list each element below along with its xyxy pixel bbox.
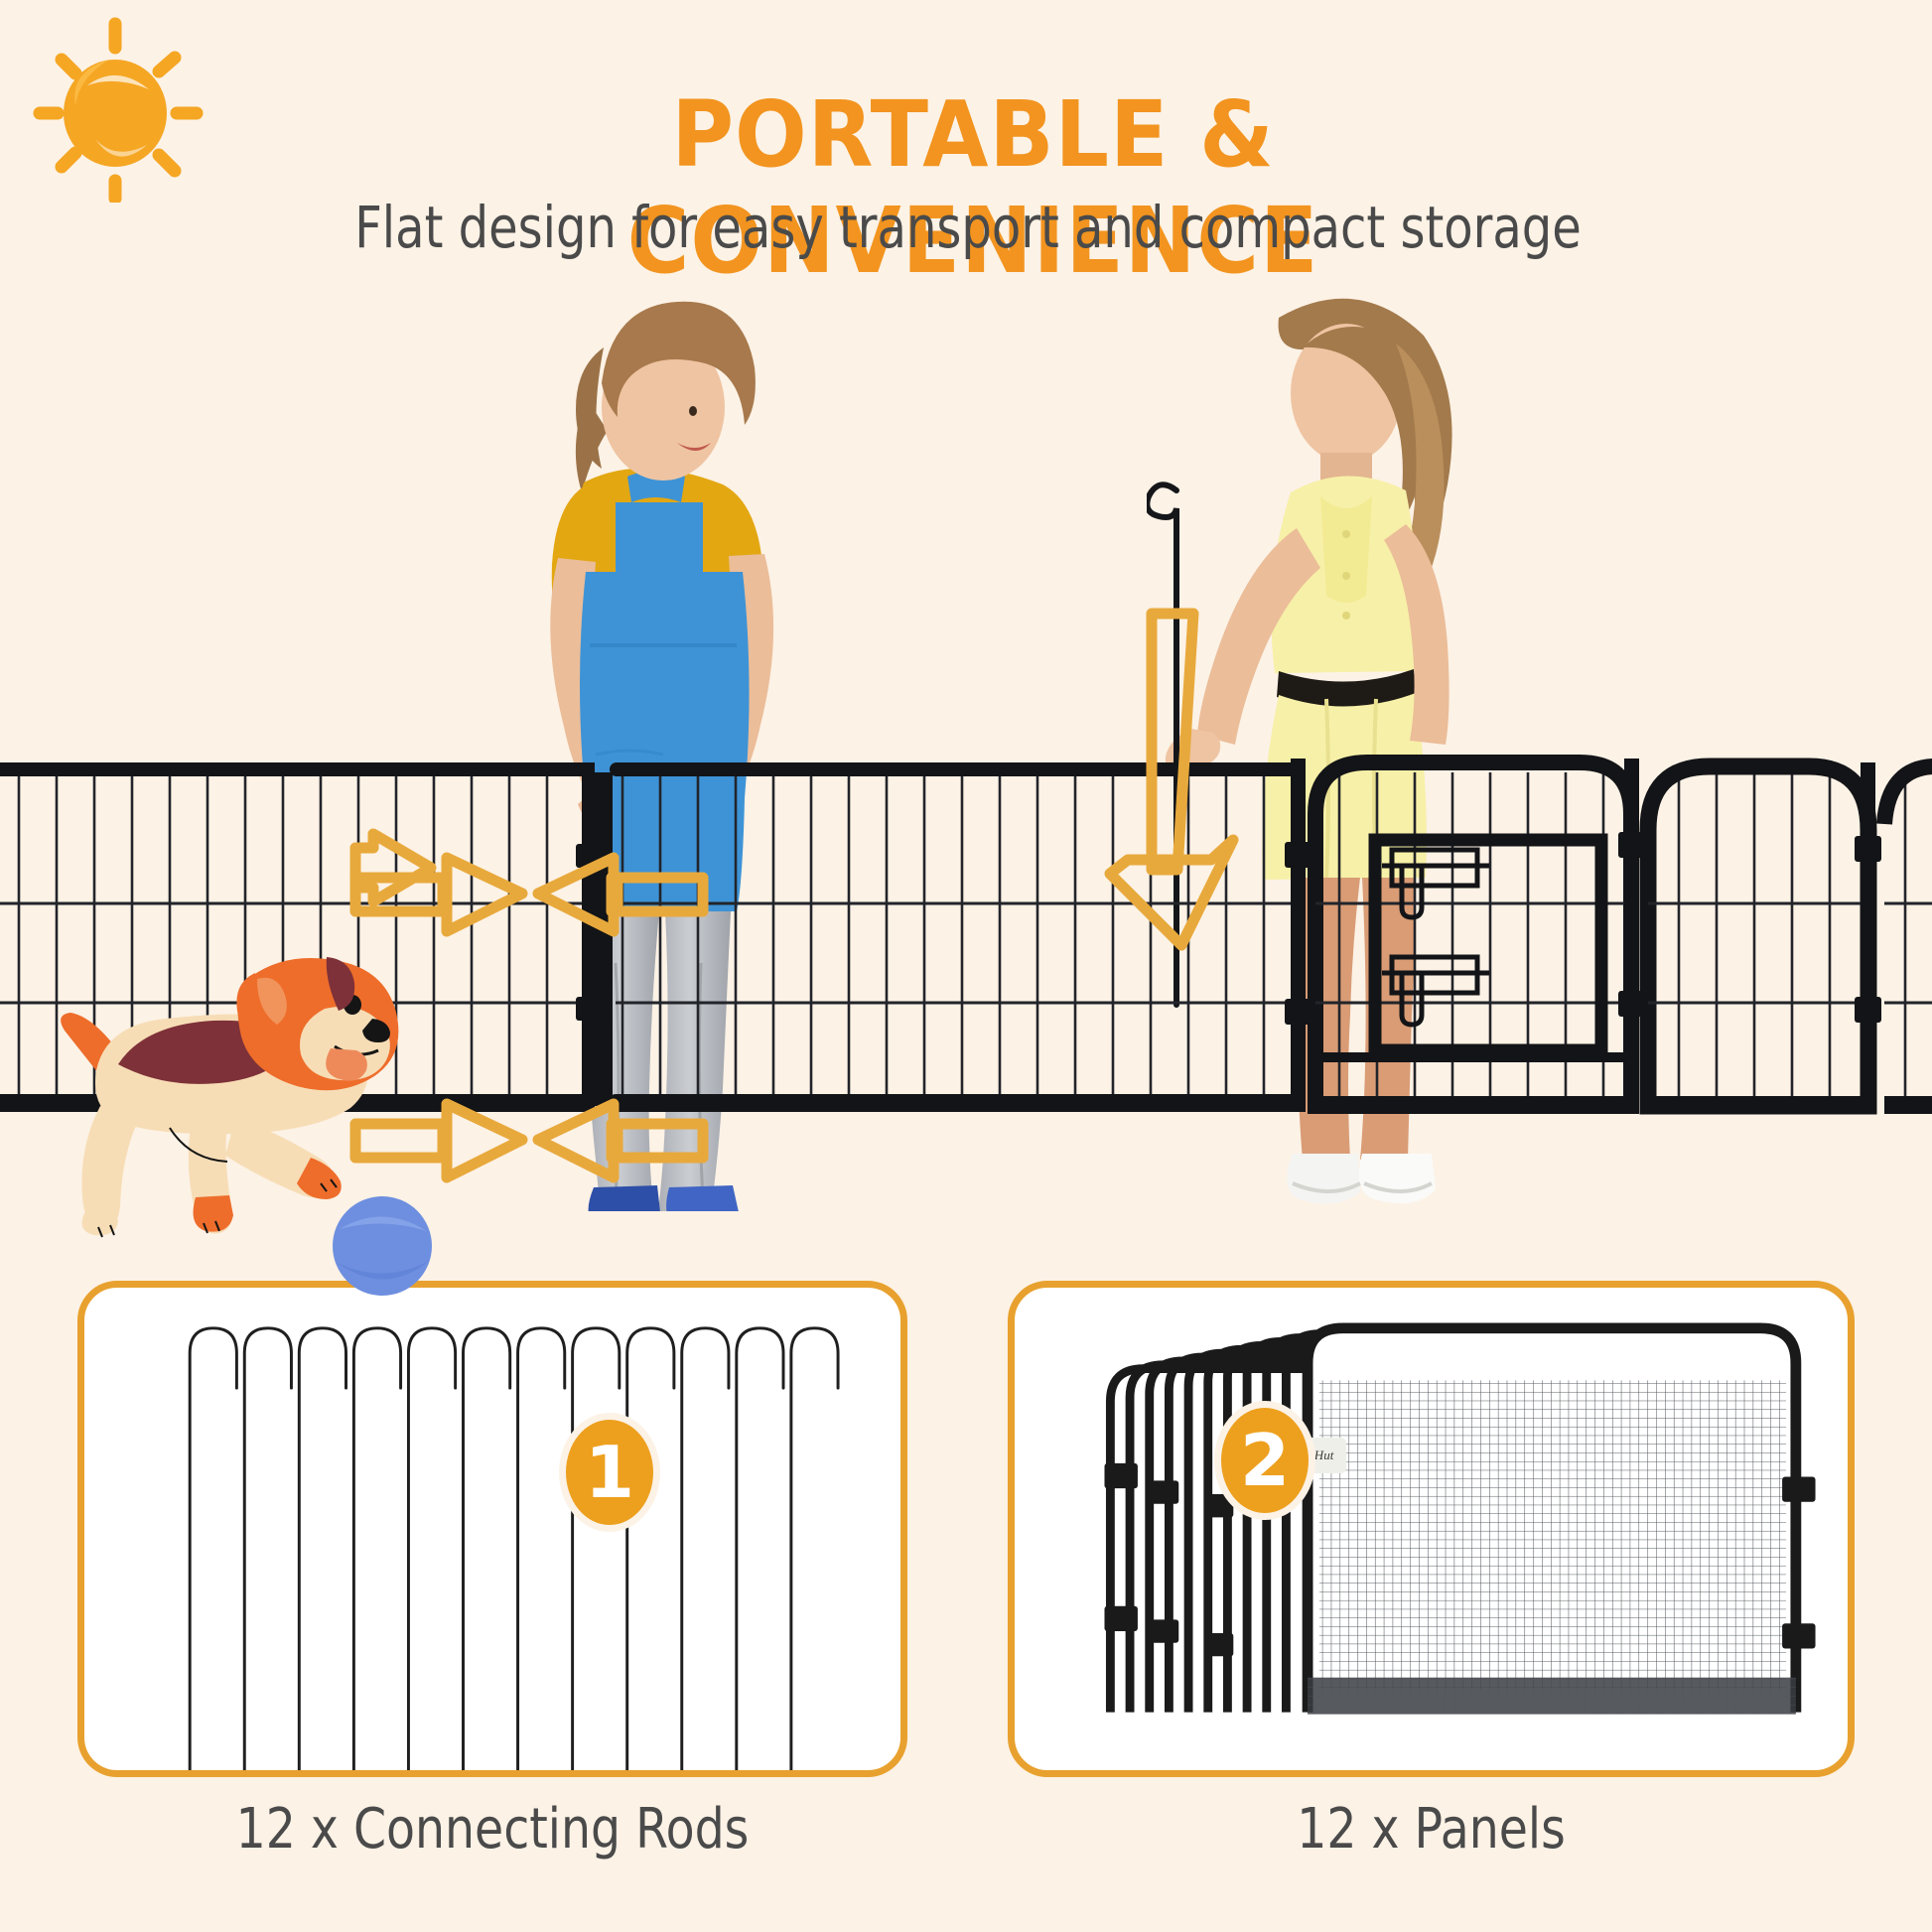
badge-step-2: 2 bbox=[1221, 1408, 1309, 1513]
connecting-rods-caption: 12 x Connecting Rods bbox=[102, 1797, 883, 1862]
header: PORTABLE & CONVENIENCE Flat design for e… bbox=[0, 0, 1932, 298]
badge-step-1: 1 bbox=[566, 1420, 653, 1525]
infographic-page: PORTABLE & CONVENIENCE Flat design for e… bbox=[0, 0, 1932, 1932]
panels-caption: 12 x Panels bbox=[1034, 1797, 1830, 1862]
scene: PawHut 1 2 bbox=[0, 268, 1932, 1241]
connecting-rods-box bbox=[77, 1281, 907, 1777]
connecting-rods-illustration bbox=[84, 1288, 900, 1770]
panels-box bbox=[1008, 1281, 1855, 1777]
parts-list: 12 x Connecting Rods bbox=[0, 1281, 1932, 1932]
toy-ball bbox=[328, 1191, 437, 1301]
page-subtitle: Flat design for easy transport and compa… bbox=[132, 194, 1804, 261]
panels-stack-illustration bbox=[1015, 1288, 1848, 1770]
page-title: PORTABLE & CONVENIENCE bbox=[373, 81, 1574, 294]
sun-icon bbox=[18, 14, 207, 203]
